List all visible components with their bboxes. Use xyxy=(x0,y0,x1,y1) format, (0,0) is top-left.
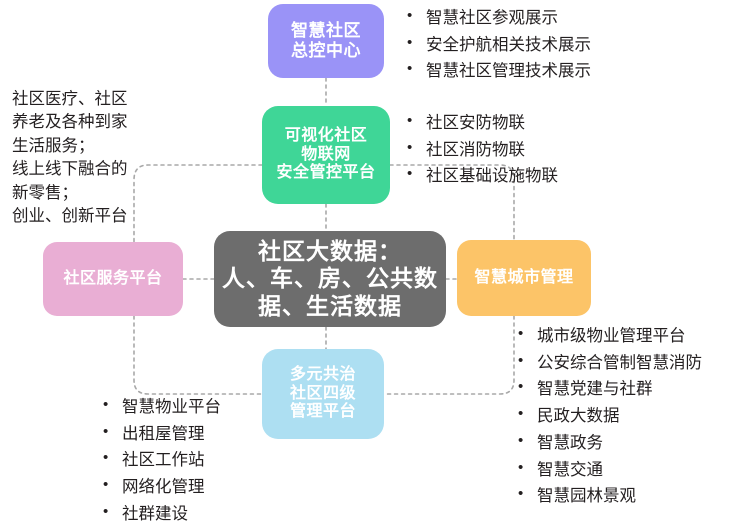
diagram-canvas: 智慧社区 总控中心 可视化社区 物联网 安全管控平台 社区大数据： 人、车、房、… xyxy=(0,0,740,512)
connector-ring-bottom-right xyxy=(384,316,514,394)
list-item: 智慧园林景观 xyxy=(515,483,702,510)
annotation-left-top-line-1: 社区医疗、社区 xyxy=(12,88,192,111)
node-bottom-line-2: 社区四级 xyxy=(290,385,356,404)
node-green-line-3: 安全管控平台 xyxy=(276,164,375,183)
node-center-line-3: 据、生活数据 xyxy=(222,293,438,320)
list-item: 智慧物业平台 xyxy=(100,394,221,421)
list-item: 智慧交通 xyxy=(515,457,702,484)
node-smart-community-control-center[interactable]: 智慧社区 总控中心 xyxy=(268,4,384,78)
node-left-label: 社区服务平台 xyxy=(63,270,162,289)
node-multi-governance-four-level-platform[interactable]: 多元共治 社区四级 管理平台 xyxy=(262,349,384,439)
list-item: 社区安防物联 xyxy=(404,110,558,137)
node-bottom-label: 多元共治 社区四级 管理平台 xyxy=(290,366,356,423)
node-center-line-1: 社区大数据： xyxy=(222,238,438,265)
annotation-right-bullets: 城市级物业管理平台 公安综合管制智慧消防 智慧党建与社群 民政大数据 智慧政务 … xyxy=(515,323,702,510)
node-top-label: 智慧社区 总控中心 xyxy=(291,21,361,61)
list-item: 社区消防物联 xyxy=(404,137,558,164)
annotation-left-top-line-5: 新零售； xyxy=(12,182,192,205)
list-item: 社区工作站 xyxy=(100,447,221,474)
list-item: 社区基础设施物联 xyxy=(404,163,558,190)
node-green-line-2: 物联网 xyxy=(276,146,375,165)
node-center-line-2: 人、车、房、公共数 xyxy=(222,265,438,292)
list-item: 智慧社区参观展示 xyxy=(404,5,591,32)
node-top-line-1: 智慧社区 xyxy=(291,21,361,41)
node-smart-city-management[interactable]: 智慧城市管理 xyxy=(457,240,591,316)
list-item: 出租屋管理 xyxy=(100,421,221,448)
annotation-bottom-left-bullets: 智慧物业平台 出租屋管理 社区工作站 网络化管理 社群建设 xyxy=(100,394,221,528)
node-green-line-1: 可视化社区 xyxy=(276,127,375,146)
node-left-line-1: 社区服务平台 xyxy=(63,270,162,289)
list-item: 网络化管理 xyxy=(100,474,221,501)
list-item: 安全护航相关技术展示 xyxy=(404,32,591,59)
node-bottom-line-1: 多元共治 xyxy=(290,366,356,385)
node-community-big-data[interactable]: 社区大数据： 人、车、房、公共数 据、生活数据 xyxy=(214,231,446,327)
node-center-label: 社区大数据： 人、车、房、公共数 据、生活数据 xyxy=(222,238,438,319)
list-item: 智慧社区管理技术展示 xyxy=(404,58,591,85)
annotation-left-top-line-4: 线上线下融合的 xyxy=(12,158,192,181)
node-top-line-2: 总控中心 xyxy=(291,41,361,61)
node-right-line-1: 智慧城市管理 xyxy=(474,269,573,288)
annotation-left-top-line-2: 养老及各种到家 xyxy=(12,111,192,134)
annotation-green-bullets: 社区安防物联 社区消防物联 社区基础设施物联 xyxy=(404,110,558,190)
connector-ring-bottom-left xyxy=(134,316,262,394)
annotation-left-top: 社区医疗、社区 养老及各种到家 生活服务； 线上线下融合的 新零售； 创业、创新… xyxy=(12,88,192,229)
node-bottom-line-3: 管理平台 xyxy=(290,403,356,422)
node-green-label: 可视化社区 物联网 安全管控平台 xyxy=(276,127,375,184)
list-item: 智慧党建与社群 xyxy=(515,376,702,403)
annotation-left-top-line-3: 生活服务； xyxy=(12,135,192,158)
list-item: 城市级物业管理平台 xyxy=(515,323,702,350)
list-item: 公安综合管制智慧消防 xyxy=(515,350,702,377)
list-item: 民政大数据 xyxy=(515,403,702,430)
list-item: 社群建设 xyxy=(100,501,221,528)
annotation-top-bullets: 智慧社区参观展示 安全护航相关技术展示 智慧社区管理技术展示 xyxy=(404,5,591,85)
node-right-label: 智慧城市管理 xyxy=(474,269,573,288)
list-item: 智慧政务 xyxy=(515,430,702,457)
node-visual-community-iot-security-platform[interactable]: 可视化社区 物联网 安全管控平台 xyxy=(262,106,390,204)
node-community-service-platform[interactable]: 社区服务平台 xyxy=(43,242,183,316)
annotation-left-top-line-6: 创业、创新平台 xyxy=(12,205,192,228)
